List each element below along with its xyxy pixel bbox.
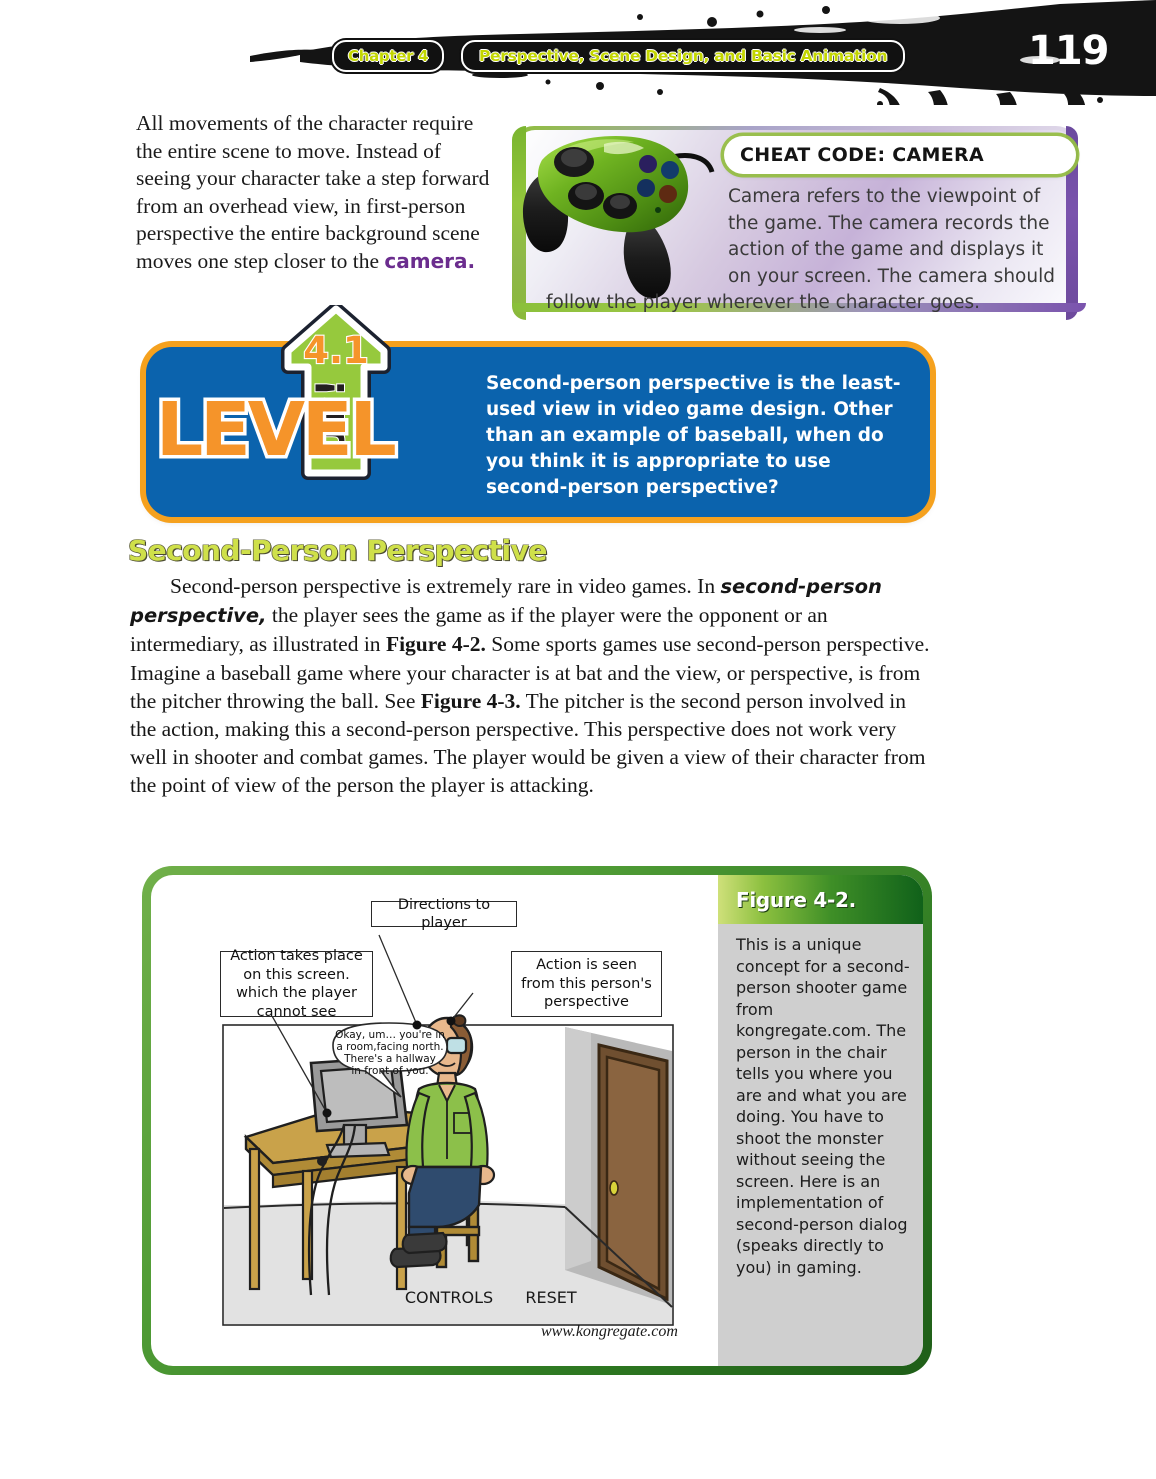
figure-container: Okay, um… you're in a room,facing north.… (142, 866, 932, 1375)
annotation-screen-note: Action takes place on this screen. which… (220, 951, 373, 1017)
svg-text:in front of you.: in front of you. (351, 1065, 428, 1077)
page-section-heading: Second-Person Perspective (128, 534, 547, 567)
figure-caption-body: This is a unique concept for a second-pe… (718, 924, 923, 1278)
level-up-logo: 4.1 UP! LEVEL LEVEL (138, 305, 468, 517)
cheat-code-title-bar: CHEAT CODE: CAMERA (724, 136, 1076, 174)
figure-inner: Okay, um… you're in a room,facing north.… (151, 875, 923, 1366)
chapter-badge: Chapter 4 (332, 40, 444, 72)
svg-text:LEVEL: LEVEL (156, 387, 396, 473)
figure-credit: www.kongregate.com (541, 1323, 678, 1341)
cheat-code-title: CHEAT CODE: CAMERA (740, 144, 984, 166)
reset-label: RESET (525, 1288, 576, 1307)
level-up-question: Second-person perspective is the least-u… (486, 371, 906, 501)
figure-reference-1: Figure 4-2. (386, 632, 486, 656)
annotation-directions-to-player: Directions to player (371, 901, 517, 927)
body-text-1: Second-person perspective is extremely r… (170, 574, 720, 598)
gamepad-icon (512, 114, 748, 314)
chapter-title-badge: Perspective, Scene Design, and Basic Ani… (461, 40, 905, 72)
svg-text:Okay, um… you're in: Okay, um… you're in (335, 1029, 445, 1041)
level-up-box: 4.1 UP! LEVEL LEVEL Second-person perspe… (146, 347, 930, 517)
figure-caption-title: Figure 4-2. (736, 888, 856, 912)
cheat-code-inner: CHEAT CODE: CAMERA Camera refers to the … (516, 130, 1074, 308)
intro-paragraph: All movements of the character require t… (136, 110, 491, 275)
svg-text:a room,facing north.: a room,facing north. (336, 1041, 443, 1053)
figure-caption-header: Figure 4-2. (718, 875, 923, 924)
chapter-label: Chapter 4 (348, 47, 428, 65)
controls-label: CONTROLS (405, 1288, 493, 1307)
chapter-title: Perspective, Scene Design, and Basic Ani… (479, 47, 887, 65)
annotation-perspective-note: Action is seen from this person's perspe… (511, 951, 662, 1017)
camera-keyword: camera. (384, 249, 475, 273)
figure-caption-panel: Figure 4-2. This is a unique concept for… (718, 875, 923, 1366)
svg-text:There's a hallway: There's a hallway (343, 1053, 436, 1065)
figure-reference-2: Figure 4-3. (421, 689, 521, 713)
cheat-code-body: Camera refers to the viewpoint of the ga… (728, 184, 1066, 290)
page-number: 119 (1028, 28, 1109, 74)
page-header: Chapter 4 Perspective, Scene Design, and… (0, 0, 1156, 105)
level-up-number: 4.1 (303, 329, 369, 372)
cheat-code-box: CHEAT CODE: CAMERA Camera refers to the … (512, 126, 1078, 312)
body-paragraph: Second-person perspective is extremely r… (130, 572, 930, 800)
cheat-code-body-last-line: follow the player wherever the character… (546, 290, 1066, 317)
